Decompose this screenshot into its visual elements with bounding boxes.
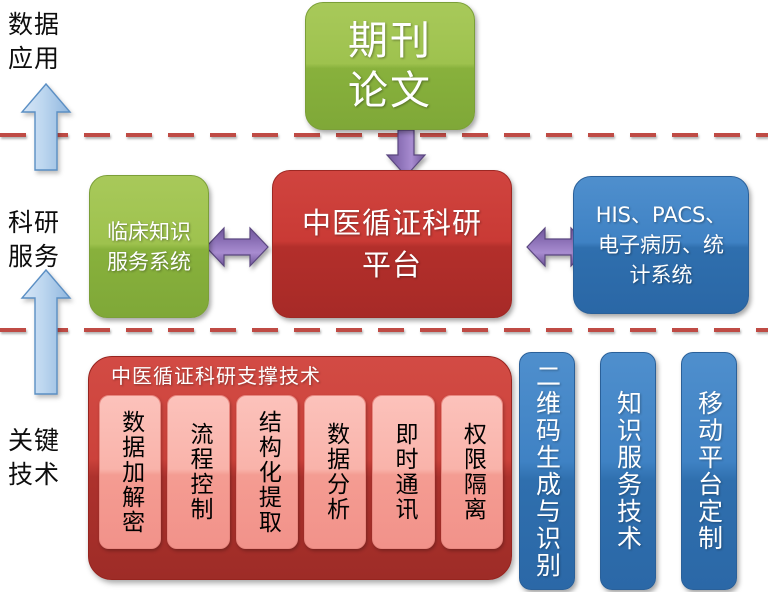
support-item[interactable]: 数据分析 (304, 395, 366, 549)
support-technology-container: 中医循证科研支撑技术 数据加解密 流程控制 结构化提取 数据分析 即时通讯 权限… (88, 356, 512, 580)
bidirectional-arrow-icon (205, 222, 269, 272)
side-tech-mobile-platform-customization[interactable]: 移动平台定制 (681, 352, 737, 590)
diagram-canvas: 数据 应用 科研 服务 关键 技术 (0, 0, 768, 592)
node-his-pacs-emr-stats[interactable]: HIS、PACS、 电子病历、统 计系统 (573, 176, 749, 314)
support-item[interactable]: 即时通讯 (372, 395, 434, 549)
tier-divider-bottom (0, 328, 768, 332)
up-arrow-icon (20, 82, 72, 172)
support-item[interactable]: 数据加解密 (99, 395, 161, 549)
support-technology-title: 中医循证科研支撑技术 (111, 363, 321, 389)
up-arrow-icon (20, 268, 72, 396)
node-clinical-knowledge-service[interactable]: 临床知识 服务系统 (89, 175, 209, 318)
side-tech-qrcode-generation-recognition[interactable]: 二维码生成与识别 (519, 352, 575, 590)
tier-divider-top (0, 133, 768, 137)
tier-label-data-application: 数据 应用 (8, 8, 60, 76)
tier-label-key-technology: 关键 技术 (8, 424, 60, 492)
support-item[interactable]: 流程控制 (167, 395, 229, 549)
tier-label-research-service: 科研 服务 (8, 206, 60, 274)
node-journal-paper[interactable]: 期刊 论文 (305, 2, 475, 130)
support-item[interactable]: 结构化提取 (236, 395, 298, 549)
support-technology-item-list: 数据加解密 流程控制 结构化提取 数据分析 即时通讯 权限隔离 (99, 395, 503, 549)
side-tech-knowledge-service[interactable]: 知识服务技术 (600, 352, 656, 590)
node-tcm-evidence-research-platform[interactable]: 中医循证科研 平台 (272, 170, 512, 318)
support-item[interactable]: 权限隔离 (441, 395, 503, 549)
